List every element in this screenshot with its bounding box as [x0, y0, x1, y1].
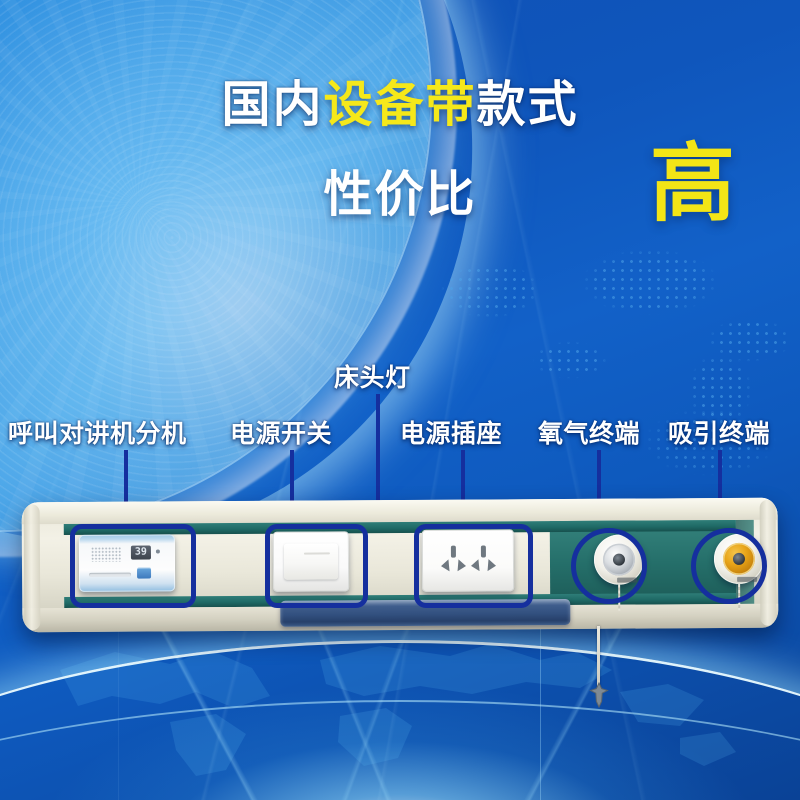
panel-end-cap-left — [24, 504, 41, 630]
hanging-cable — [597, 626, 600, 688]
headline-line1-part2: 款式 — [477, 78, 579, 132]
highlight-ring-oxygen-terminal — [571, 528, 647, 604]
headline-line-1: 国内设备带款式 — [0, 80, 800, 131]
callout-label-intercom: 呼叫对讲机分机 — [8, 414, 187, 450]
highlight-box-power-socket — [414, 524, 533, 608]
highlight-ring-suction-terminal — [691, 528, 767, 604]
highlight-box-power-switch — [265, 524, 368, 608]
callout-label-power-socket: 电源插座 — [400, 414, 502, 450]
headline-line1-accent: 设备带 — [323, 78, 476, 132]
callout-label-oxygen-terminal: 氧气终端 — [538, 414, 640, 450]
highlight-box-intercom — [70, 524, 196, 608]
bed-head-unit-panel: 39 — [22, 500, 778, 630]
headline-line1-part1: 国内 — [221, 78, 323, 132]
promo-banner: 国内设备带款式 性价比 高 呼叫对讲机分机 电源开关 床头灯 电源插座 氧气终端… — [0, 0, 800, 800]
callout-label-bedside-lamp: 床头灯 — [334, 358, 411, 394]
cross-connector-icon — [586, 682, 612, 708]
headline-accent-character: 高 — [650, 142, 735, 227]
callout-label-suction-terminal: 吸引终端 — [668, 414, 770, 450]
callout-label-power-switch: 电源开关 — [230, 414, 332, 450]
